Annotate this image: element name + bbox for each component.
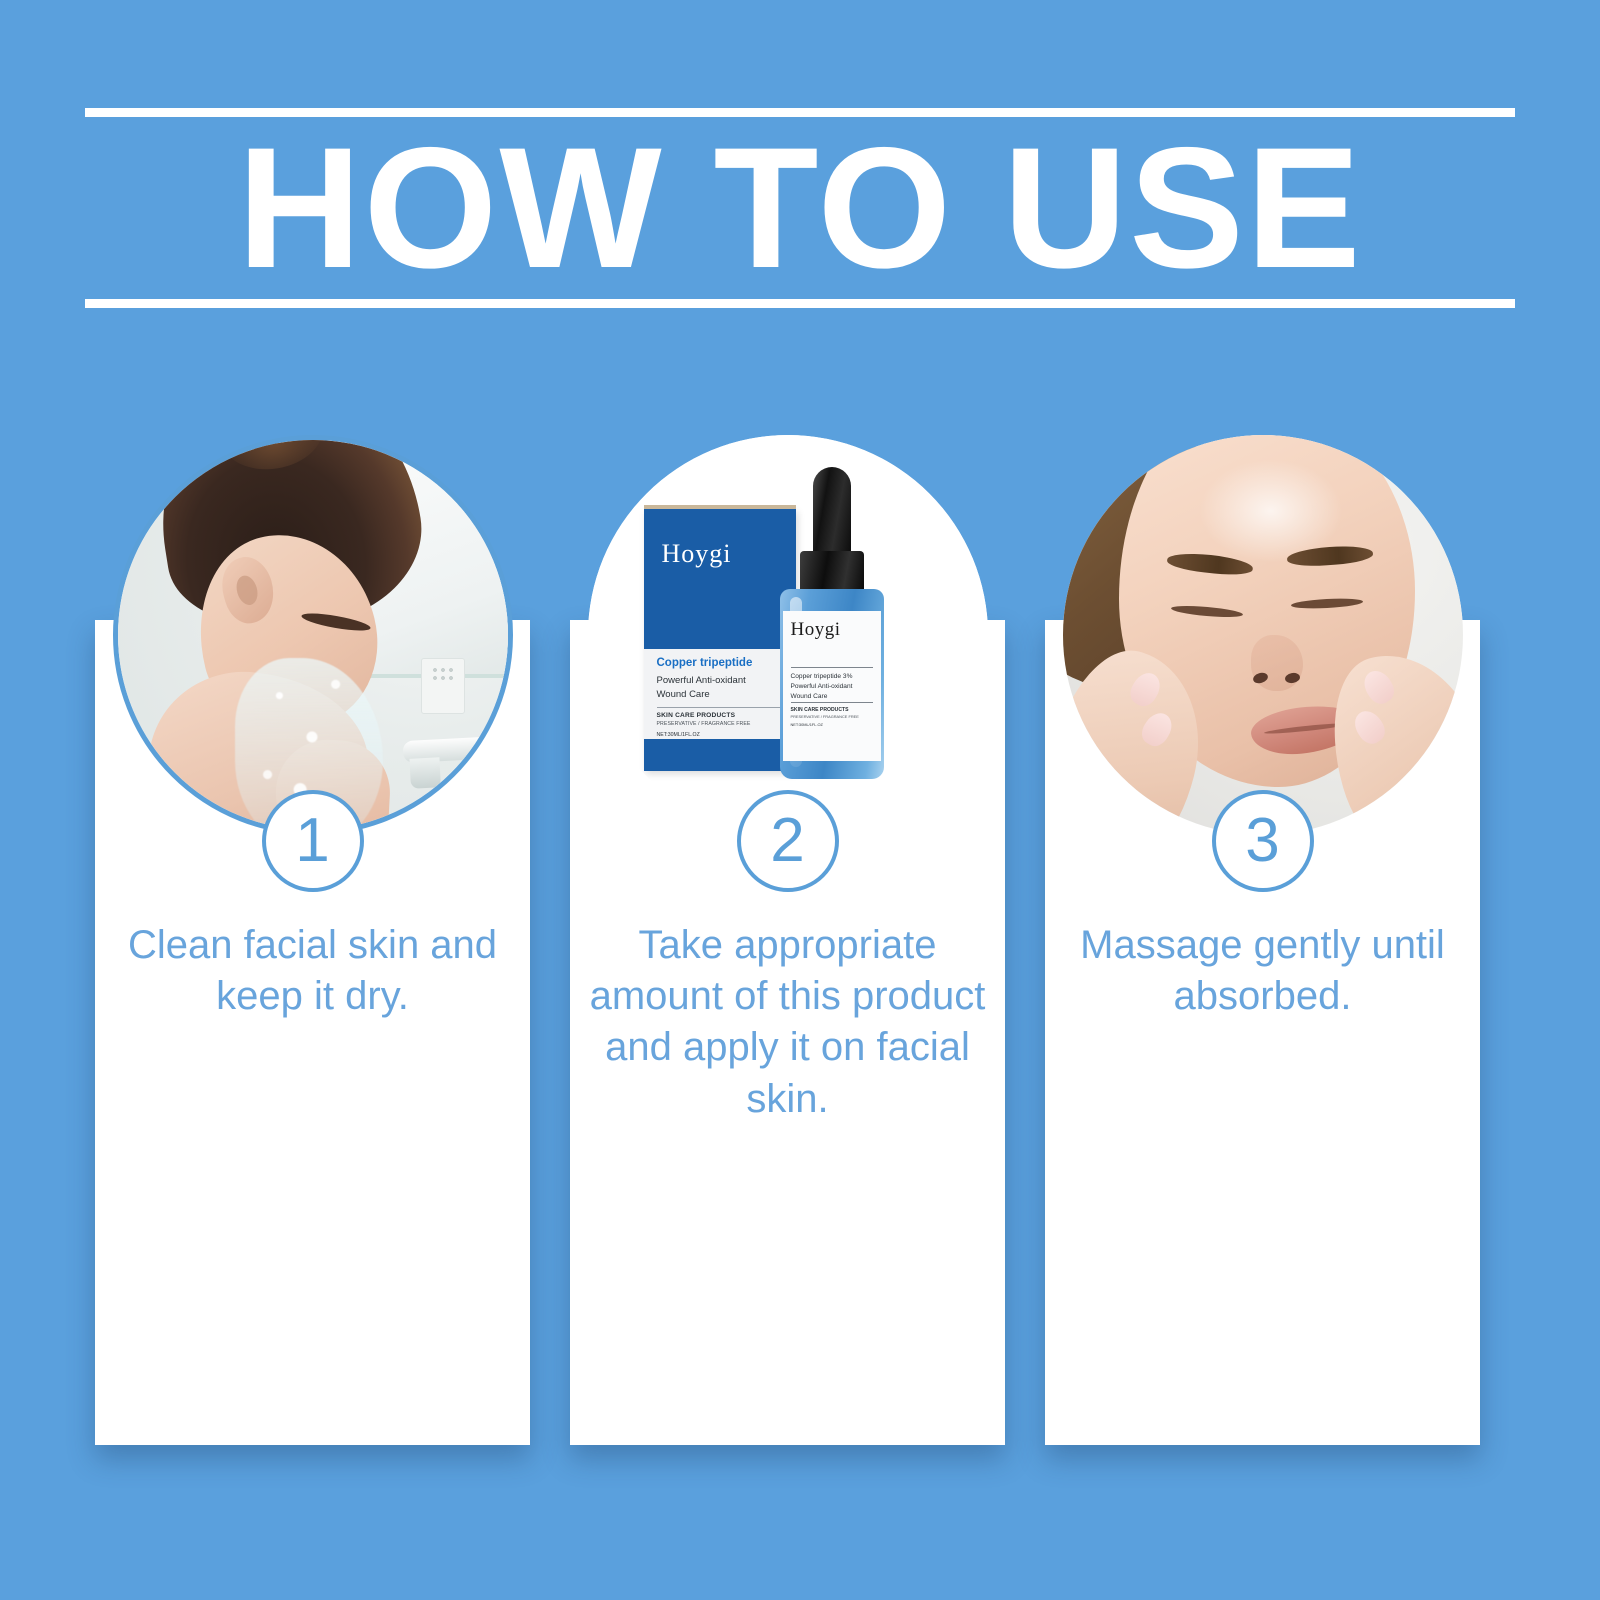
box-label-band: Copper tripeptide Powerful Anti-oxidant …	[644, 649, 796, 739]
step-1-photo-circle	[113, 435, 513, 835]
massaging-face-image	[1063, 435, 1463, 835]
bottle-claim-line-3: Wound Care	[791, 692, 873, 702]
page-header: HOW TO USE	[85, 108, 1515, 308]
steps-container: 1 Clean facial skin and keep it dry. Hoy…	[95, 435, 1505, 1445]
box-claims: PRESERVATIVE / FRAGRANCE FREE	[657, 721, 783, 727]
bottle-category: SKIN CARE PRODUCTS	[791, 707, 873, 713]
box-label-divider	[657, 707, 783, 708]
box-top-edge	[644, 505, 796, 509]
bottle-label-divider-bottom	[791, 702, 873, 703]
box-claim-line-2: Wound Care	[657, 688, 783, 702]
step-1-number-badge: 1	[262, 790, 364, 892]
fingernail-shape	[1126, 668, 1166, 710]
box-product-title: Copper tripeptide	[657, 657, 783, 669]
washing-face-image	[118, 440, 508, 830]
step-3-number-badge: 3	[1212, 790, 1314, 892]
bottle-claim-line-1: Copper tripeptide 3%	[791, 672, 873, 682]
step-3-number: 3	[1245, 810, 1279, 872]
bottle-claims: PRESERVATIVE / FRAGRANCE FREE	[791, 714, 873, 719]
fingernail-shape	[1136, 708, 1176, 751]
serum-bottle: Hoygi Copper tripeptide 3% Powerful Anti…	[780, 467, 884, 779]
step-1-caption: Clean facial skin and keep it dry.	[113, 920, 512, 1022]
step-2-number-badge: 2	[737, 790, 839, 892]
box-net-volume: NET:30ML/1FL.OZ	[657, 732, 783, 738]
box-claim-line-1: Powerful Anti-oxidant	[657, 674, 783, 688]
step-3-photo-circle	[1063, 435, 1463, 835]
step-card-2: Hoygi Copper tripeptide Powerful Anti-ox…	[570, 435, 1005, 1445]
fingernail-shape	[1349, 706, 1390, 749]
title-rule-bottom	[85, 299, 1515, 308]
bottle-net-volume: NET:30ML/1FL.OZ	[791, 722, 873, 727]
bottle-brand-name: Hoygi	[791, 619, 873, 641]
step-2-number: 2	[770, 810, 804, 872]
step-card-3: 3 Massage gently until absorbed.	[1045, 435, 1480, 1445]
bottle-label-divider-top	[791, 667, 873, 668]
bottle-body: Hoygi Copper tripeptide 3% Powerful Anti…	[780, 589, 884, 779]
bottle-label: Hoygi Copper tripeptide 3% Powerful Anti…	[783, 611, 881, 761]
box-brand-name: Hoygi	[662, 539, 732, 569]
page-title: HOW TO USE	[85, 122, 1515, 294]
step-1-number: 1	[295, 810, 329, 872]
step-card-1: 1 Clean facial skin and keep it dry.	[95, 435, 530, 1445]
dropper-cap	[813, 467, 851, 559]
fingernail-shape	[1358, 666, 1398, 709]
step-2-caption: Take appropriate amount of this product …	[588, 920, 987, 1125]
wall-outlet-shape	[421, 658, 465, 714]
product-image: Hoygi Copper tripeptide Powerful Anti-ox…	[588, 435, 988, 835]
box-category: SKIN CARE PRODUCTS	[657, 712, 783, 719]
step-3-caption: Massage gently until absorbed.	[1063, 920, 1462, 1022]
faucet-shape	[403, 735, 513, 763]
bottle-claim-line-2: Powerful Anti-oxidant	[791, 682, 873, 692]
step-2-photo-circle: Hoygi Copper tripeptide Powerful Anti-ox…	[588, 435, 988, 835]
product-box: Hoygi Copper tripeptide Powerful Anti-ox…	[644, 509, 796, 771]
